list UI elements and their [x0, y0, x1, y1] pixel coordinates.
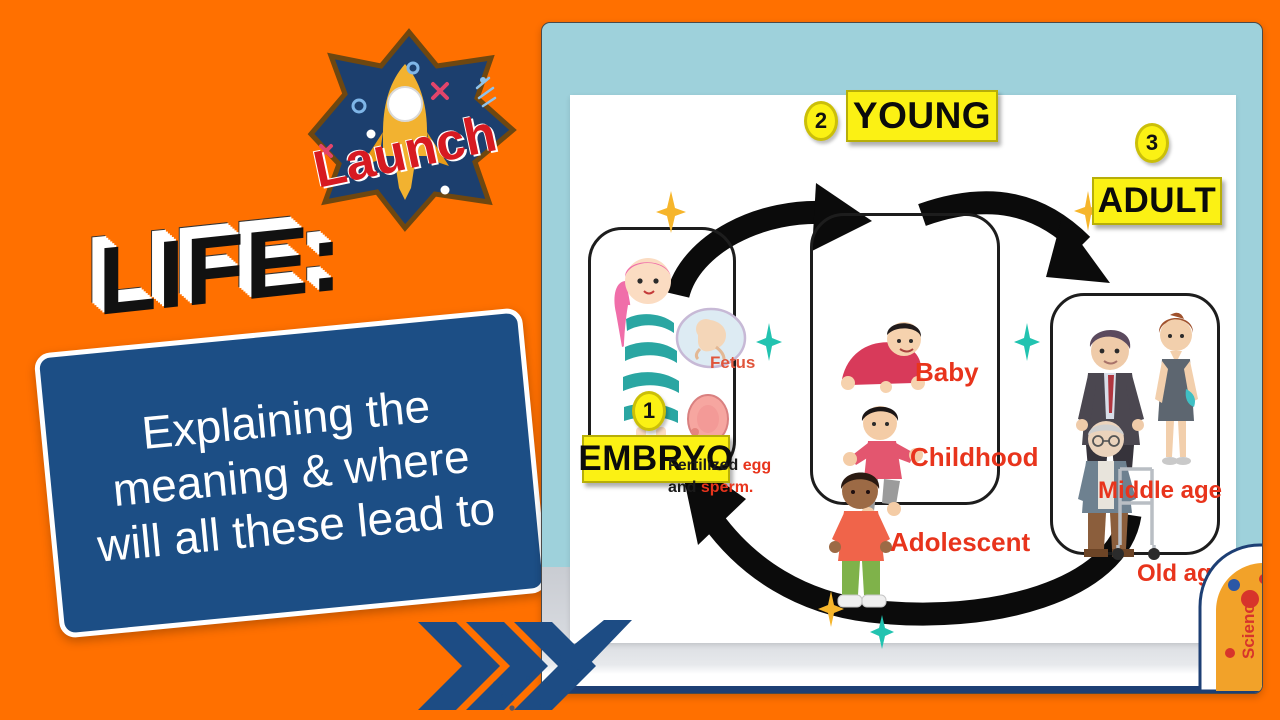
stage-label-adult: ADULT — [1092, 177, 1222, 225]
caption-baby: Baby — [915, 357, 979, 388]
fertilized-sperm-word: sperm. — [701, 479, 753, 496]
caption-middle-age: Middle age — [1098, 477, 1222, 505]
stage-number-3: 3 — [1135, 123, 1169, 163]
fertilized-egg-word: egg — [743, 457, 771, 474]
life-cycle-diagram: 1 2 3 EMBRYO YOUNG ADULT Fetus Fertilize… — [570, 95, 1236, 643]
caption-card: Explaining the meaning & where will all … — [33, 307, 548, 639]
stage-number-1: 1 — [632, 391, 666, 431]
fertilized-mid: and — [668, 479, 701, 496]
science-badge-icon: Science — [1194, 541, 1263, 691]
caption-adolescent: Adolescent — [890, 527, 1030, 558]
slide-panel[interactable]: 1 2 3 EMBRYO YOUNG ADULT Fetus Fertilize… — [541, 22, 1263, 694]
caption-childhood: Childhood — [910, 442, 1039, 473]
stage-label-young: YOUNG — [846, 90, 998, 142]
caption-fetus: Fetus — [710, 353, 755, 373]
stage-number-2: 2 — [804, 101, 838, 141]
slide-content: 1 2 3 EMBRYO YOUNG ADULT Fetus Fertilize… — [570, 95, 1236, 643]
caption-fertilized-egg-and-sperm: Fertilized egg and sperm. — [668, 455, 771, 498]
science-badge-label: Science — [1239, 595, 1258, 659]
fertilized-lead: Fertilized — [668, 457, 743, 474]
slide-canvas: Launch LIFE: Explaining the meaning & wh… — [0, 0, 1280, 720]
caption-text: Explaining the meaning & where will all … — [70, 371, 512, 574]
page-title: LIFE: — [98, 202, 343, 338]
